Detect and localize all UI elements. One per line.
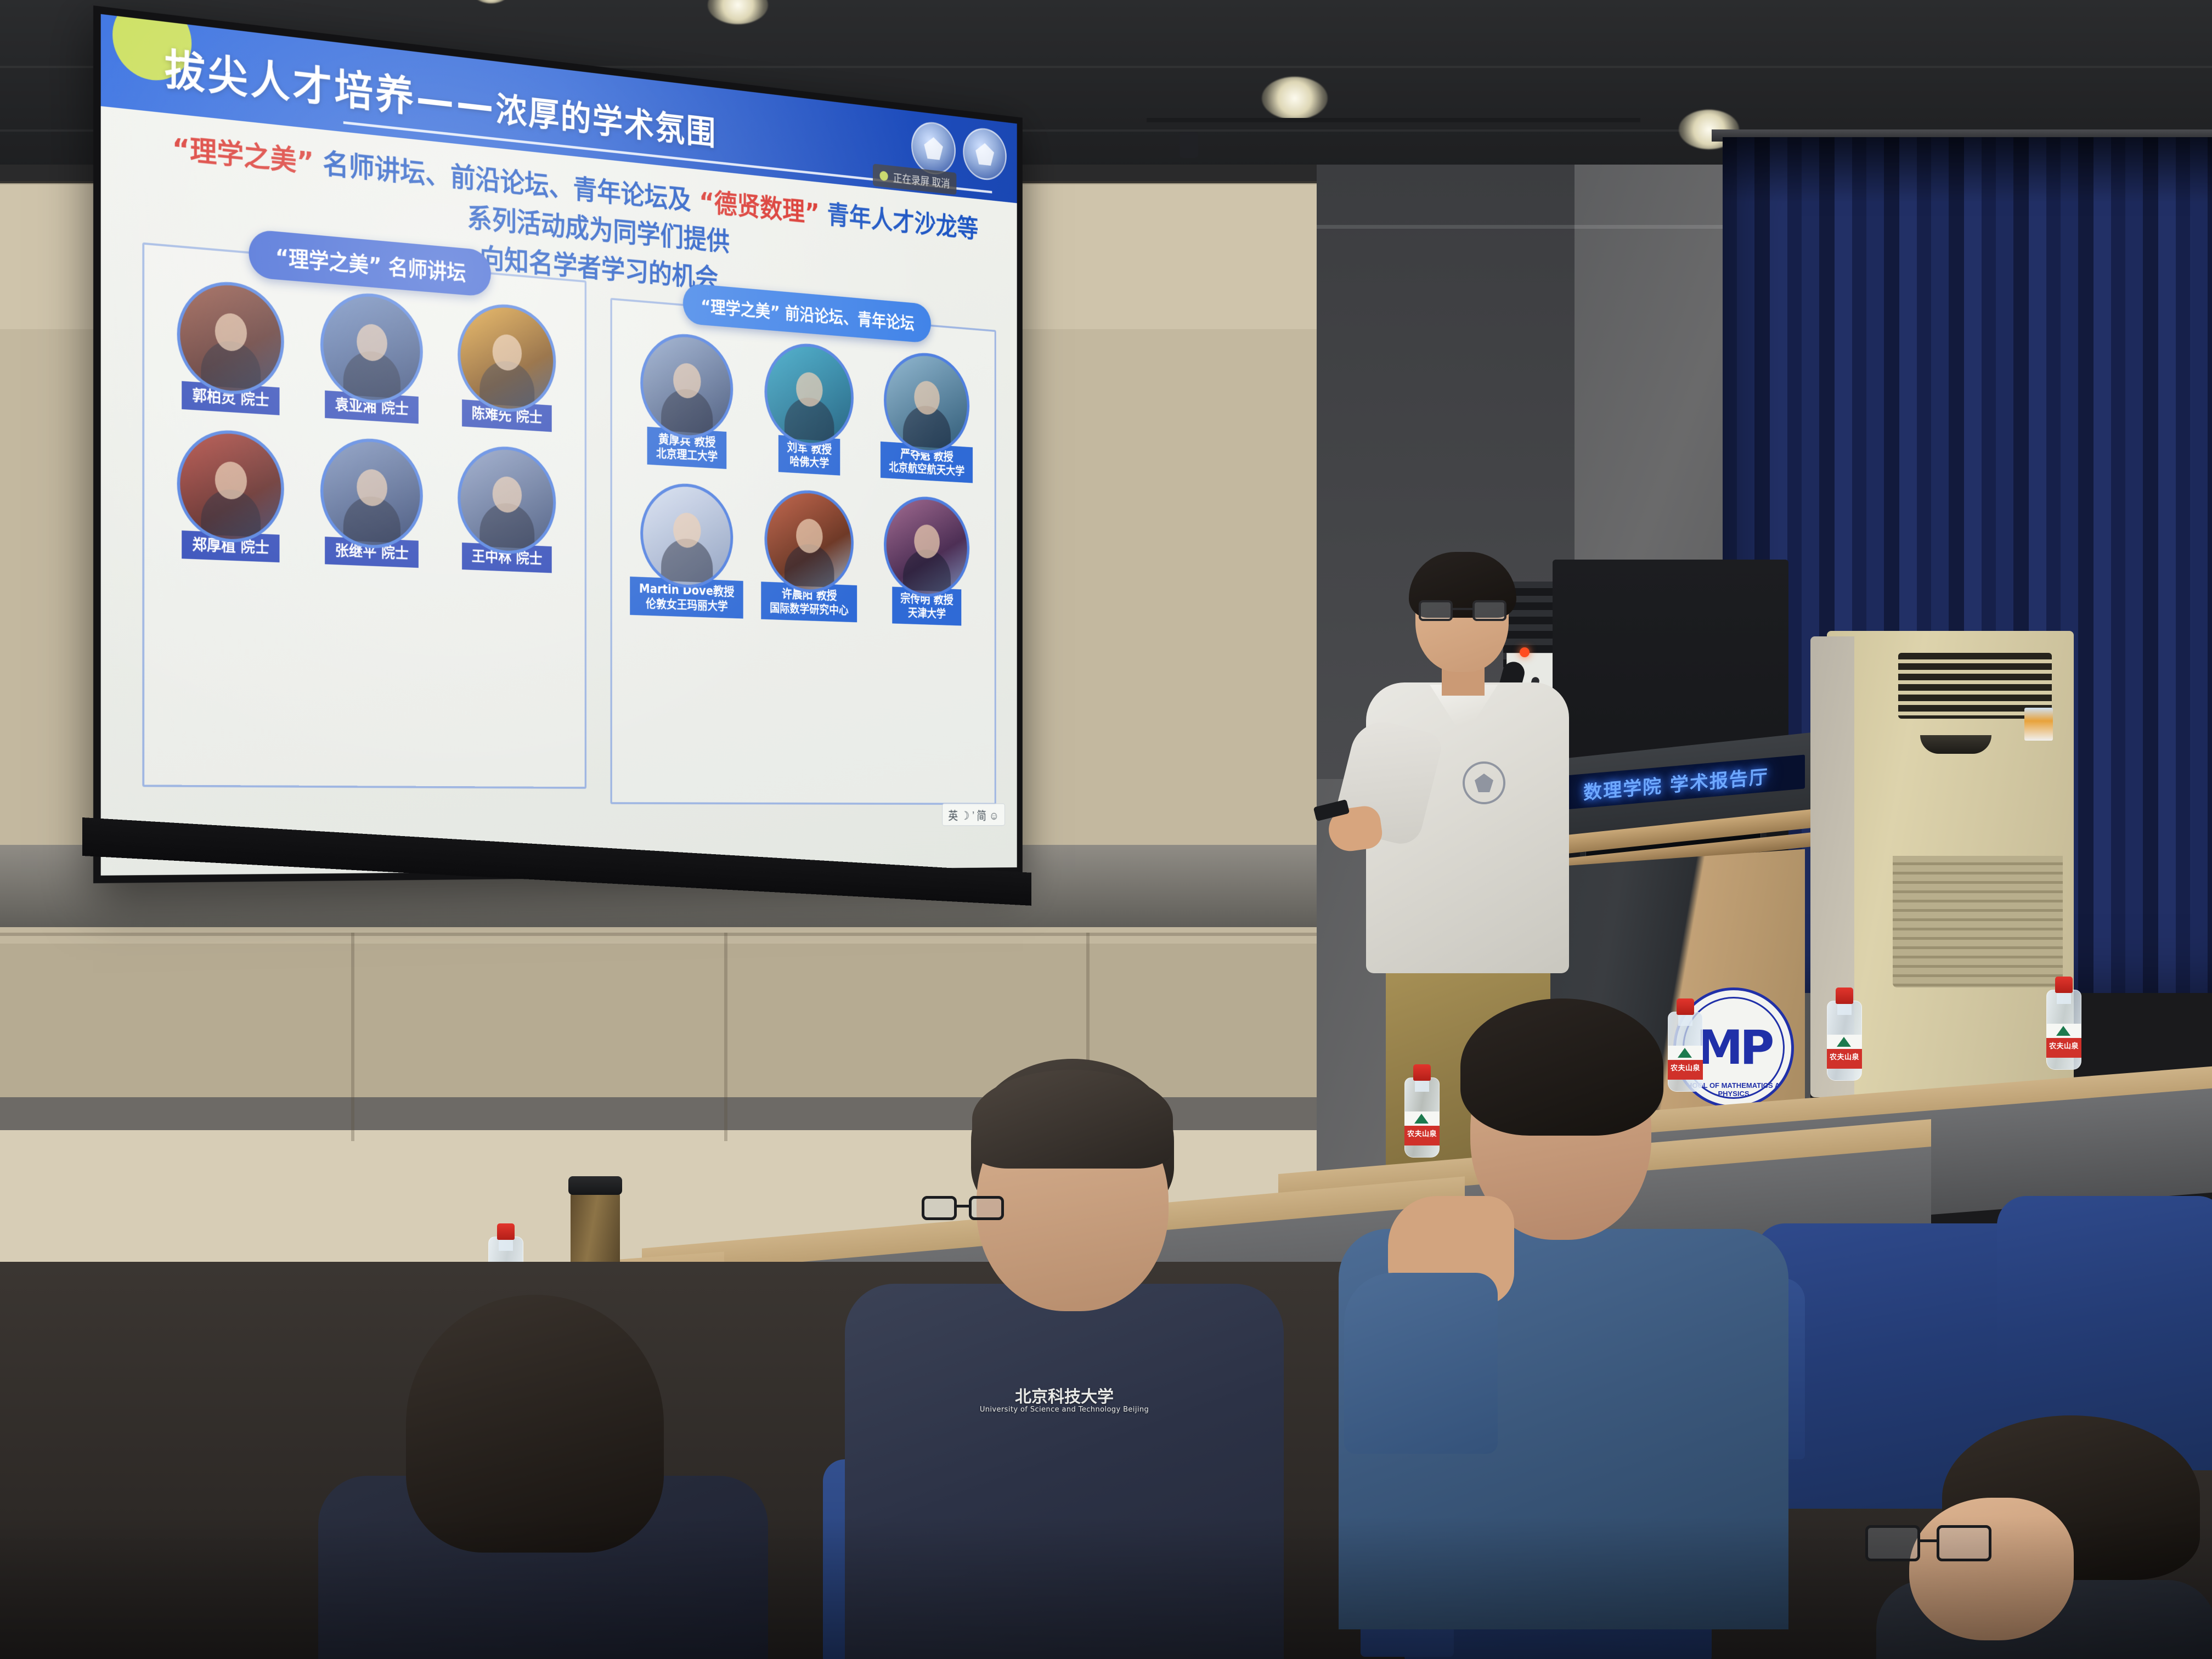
glasses-bridge	[1920, 1539, 1937, 1542]
presentation-slide: 拔尖人才培养——浓厚的学术氛围 正在录屏 取消 “理学之美” 名师讲坛、前沿论坛…	[101, 14, 1017, 876]
audience-member	[1876, 1415, 2212, 1659]
person-card[interactable]: 宗传明 教授 天津大学	[875, 494, 978, 627]
audience-arm	[1344, 1273, 1498, 1454]
person-card[interactable]: 黄厚兵 教授 北京理工大学	[631, 330, 742, 470]
jacket-logo-en: University of Science and Technology Bei…	[949, 1406, 1180, 1414]
panel-left-person-grid: 郭柏灵 院士 袁亚湘 院士 陈难先 院士 郑厚植 院士	[144, 275, 584, 575]
person-card[interactable]: 张继平 院士	[310, 435, 433, 568]
audience-hair	[1460, 998, 1663, 1136]
person-affiliation: 伦敦女王玛丽大学	[639, 596, 734, 614]
portrait-photo	[765, 488, 854, 594]
glasses-bridge	[957, 1205, 969, 1207]
audience-hair-top	[972, 1070, 1173, 1169]
person-card[interactable]: 郭柏灵 院士	[166, 277, 295, 416]
person-card[interactable]: 郑厚植 院士	[166, 427, 295, 563]
ime-mode-label: 英 ☽ ’ 简 ☺	[948, 806, 998, 823]
person-card[interactable]: Martin Dove教授 伦敦女王玛丽大学	[631, 481, 742, 618]
screen-recording-label: 正在录屏 取消	[893, 169, 950, 190]
audience-member	[1306, 998, 1810, 1629]
mountain-icon	[1837, 1037, 1851, 1047]
portrait-photo	[320, 436, 423, 550]
audience-face	[1909, 1498, 2074, 1640]
person-card[interactable]: 刘军 教授 哈佛大学	[755, 340, 862, 477]
bottle-neck	[1837, 1003, 1852, 1015]
portrait-photo	[320, 290, 423, 407]
bottle-cap	[497, 1223, 515, 1240]
bottle-neck	[2057, 992, 2071, 1004]
person-affiliation: 国际数学研究中心	[770, 601, 849, 617]
curtain-shadow	[1723, 137, 2212, 203]
track-light-fixture	[1180, 132, 1198, 158]
slide-title-main: 拔尖人才培养——	[165, 46, 496, 131]
audience-member	[307, 1295, 779, 1659]
bottle-cap	[2055, 977, 2073, 993]
portrait-photo	[884, 349, 969, 455]
audience-glasses-icon	[1865, 1525, 1991, 1564]
glasses-right-lens	[1472, 600, 1506, 621]
mountain-icon	[2056, 1026, 2070, 1036]
panel-right-person-grid: 黄厚兵 教授 北京理工大学 刘军 教授 哈佛大学	[612, 328, 995, 627]
glasses-left-lens	[1865, 1525, 1920, 1561]
air-conditioner-display	[1920, 735, 1991, 754]
panel-master-forum: “理学之美” 名师讲坛 郭柏灵 院士 袁亚湘 院士 陈难先 院士	[142, 242, 586, 789]
light-track	[1147, 118, 1640, 122]
wall-seam	[351, 933, 354, 1141]
wall-seam	[724, 933, 727, 1141]
bottle-brand-text: 农夫山泉	[2046, 1040, 2081, 1051]
ime-floating-bar[interactable]: 英 ☽ ’ 简 ☺	[942, 803, 1005, 826]
audience-hair	[406, 1295, 664, 1553]
ceiling-downlight	[1262, 77, 1328, 120]
person-card[interactable]: 陈难先 院士	[448, 300, 566, 433]
person-card[interactable]: 许晨阳 教授 国际数学研究中心	[755, 488, 862, 622]
person-affiliation: 北京理工大学	[656, 447, 718, 464]
portrait-photo	[640, 331, 733, 441]
slide-body-highlight-2: “德贤数理”	[699, 187, 819, 229]
bottle-label: 农夫山泉	[2046, 1024, 2081, 1058]
glasses-left-lens	[922, 1196, 957, 1220]
lecture-hall-scene: 拔尖人才培养——浓厚的学术氛围 正在录屏 取消 “理学之美” 名师讲坛、前沿论坛…	[0, 0, 2212, 1659]
bottle-brand-text: 农夫山泉	[1827, 1051, 1862, 1062]
panel-frontier-youth-forum: “理学之美” 前沿论坛、青年论坛 黄厚兵 教授 北京理工大学 刘军 教授	[611, 298, 996, 805]
portrait-photo	[765, 340, 854, 448]
university-logo-icon	[911, 120, 956, 177]
portrait-photo	[177, 278, 284, 397]
bottle-neck	[499, 1239, 513, 1251]
water-bottle[interactable]: 农夫山泉	[2046, 977, 2081, 1070]
air-conditioner-lower-grille	[1893, 856, 2063, 988]
wall-seam	[0, 933, 1361, 936]
glasses-right-lens	[1937, 1525, 1991, 1561]
school-logo-icon	[963, 126, 1006, 182]
water-bottle[interactable]: 农夫山泉	[1827, 988, 1862, 1081]
projection-screen[interactable]: 拔尖人才培养——浓厚的学术氛围 正在录屏 取消 “理学之美” 名师讲坛、前沿论坛…	[93, 5, 1023, 883]
slide-body-highlight-1: “理学之美”	[172, 133, 314, 179]
energy-label-sticker	[2024, 708, 2053, 741]
portrait-photo	[640, 481, 733, 589]
portrait-photo	[458, 301, 556, 415]
presenter-glasses-icon	[1419, 600, 1506, 622]
person-card[interactable]: 严夺魁 教授 北京航空航天大学	[875, 349, 978, 483]
bottle-cap	[1836, 988, 1853, 1004]
portrait-photo	[177, 427, 284, 545]
person-affiliation: 天津大学	[900, 606, 953, 621]
audience-glasses-icon	[922, 1196, 1004, 1221]
glasses-bridge	[1453, 608, 1472, 610]
presenter-shirt-logo-icon	[1463, 761, 1505, 804]
audience-jacket	[845, 1284, 1284, 1659]
glasses-right-lens	[969, 1196, 1004, 1220]
recording-indicator-icon	[879, 171, 888, 181]
portrait-photo	[458, 444, 556, 556]
person-card[interactable]: 袁亚湘 院士	[310, 289, 433, 425]
bottle-label: 农夫山泉	[1827, 1035, 1862, 1069]
thermos-lid	[568, 1176, 622, 1195]
portrait-photo	[884, 495, 969, 599]
person-affiliation: 哈佛大学	[787, 454, 832, 471]
person-card[interactable]: 王中林 院士	[448, 443, 566, 574]
jacket-university-logo: 北京科技大学 University of Science and Technol…	[949, 1388, 1180, 1414]
glasses-left-lens	[1419, 600, 1453, 621]
audience-member: 北京科技大学 University of Science and Technol…	[812, 1059, 1306, 1659]
jacket-logo-cn: 北京科技大学	[1015, 1387, 1114, 1407]
